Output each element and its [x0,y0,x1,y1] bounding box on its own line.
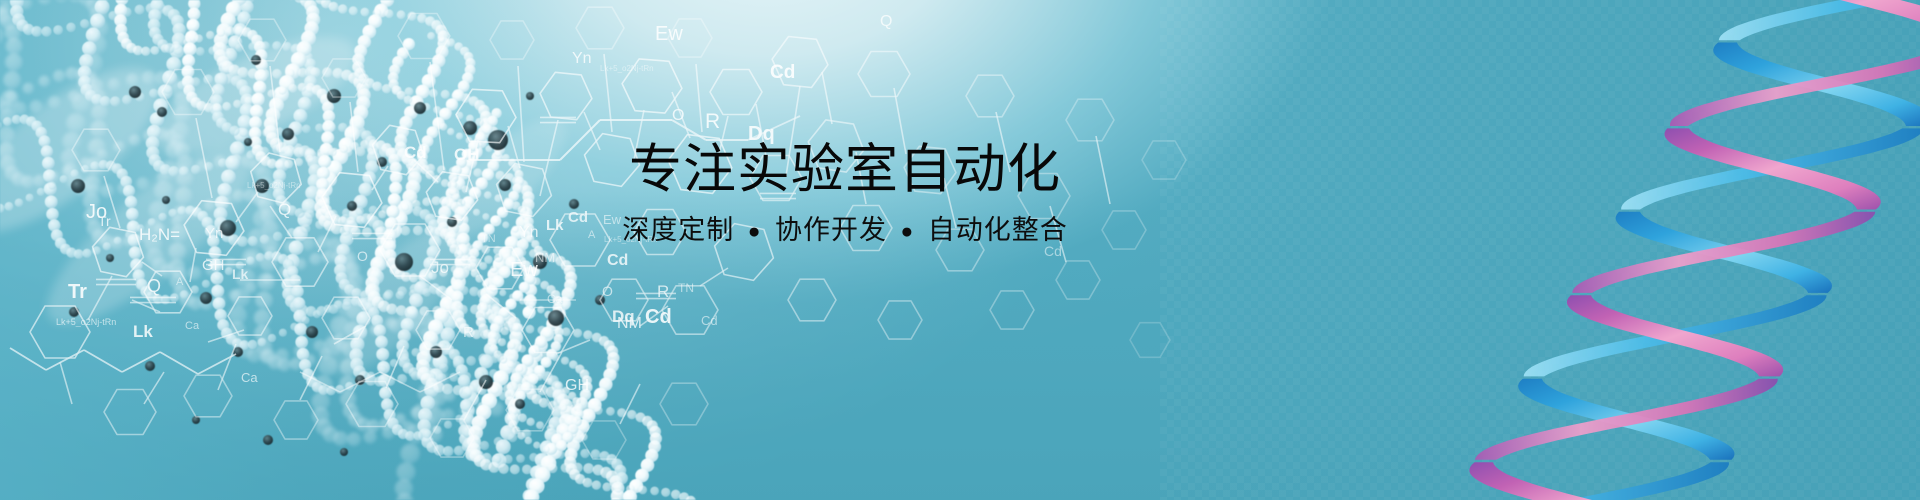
hero-banner: CdCdCdCdCdCdCdYnYnYnEwEwEwLkLkLkNMNMGHGH… [0,0,1920,500]
hero-text-block: 专注实验室自动化 深度定制 ● 协作开发 ● 自动化整合 [610,142,1080,247]
helix-ribbon-segment [1670,43,1920,127]
hero-subtitle: 深度定制 ● 协作开发 ● 自动化整合 [610,214,1080,246]
subtitle-part-2: 协作开发 [775,215,887,245]
dna-ribbon-helix-right [0,0,1920,500]
subtitle-part-3: 自动化整合 [928,215,1068,245]
separator-dot-1: ● [743,220,767,243]
page-title: 专注实验室自动化 [610,142,1080,198]
helix-ribbon-segment [1572,212,1875,293]
separator-dot-2: ● [896,220,920,243]
subtitle-part-1: 深度定制 [622,215,734,245]
